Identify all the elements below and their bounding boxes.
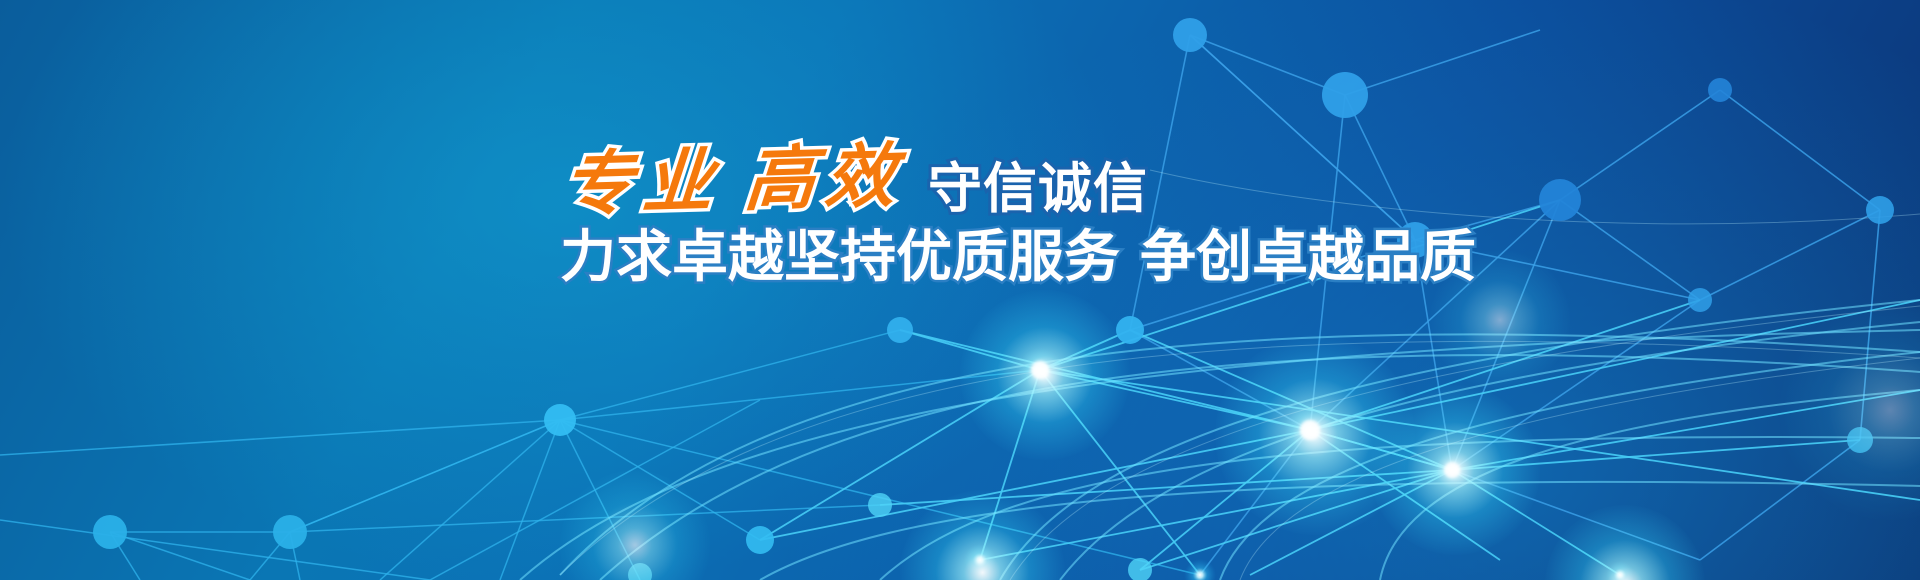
mesh-lines-lower-right bbox=[760, 200, 1920, 575]
mesh-lines-upper-right bbox=[1130, 30, 1880, 575]
network-mesh-back bbox=[0, 0, 1920, 580]
globe-arcs-thin bbox=[560, 170, 1920, 580]
globe-arcs bbox=[520, 300, 1920, 580]
network-nodes-upper bbox=[93, 18, 1894, 554]
hero-banner: 专业高效 守信诚信 力求卓越坚持优质服务争创卓越品质 bbox=[0, 0, 1920, 580]
